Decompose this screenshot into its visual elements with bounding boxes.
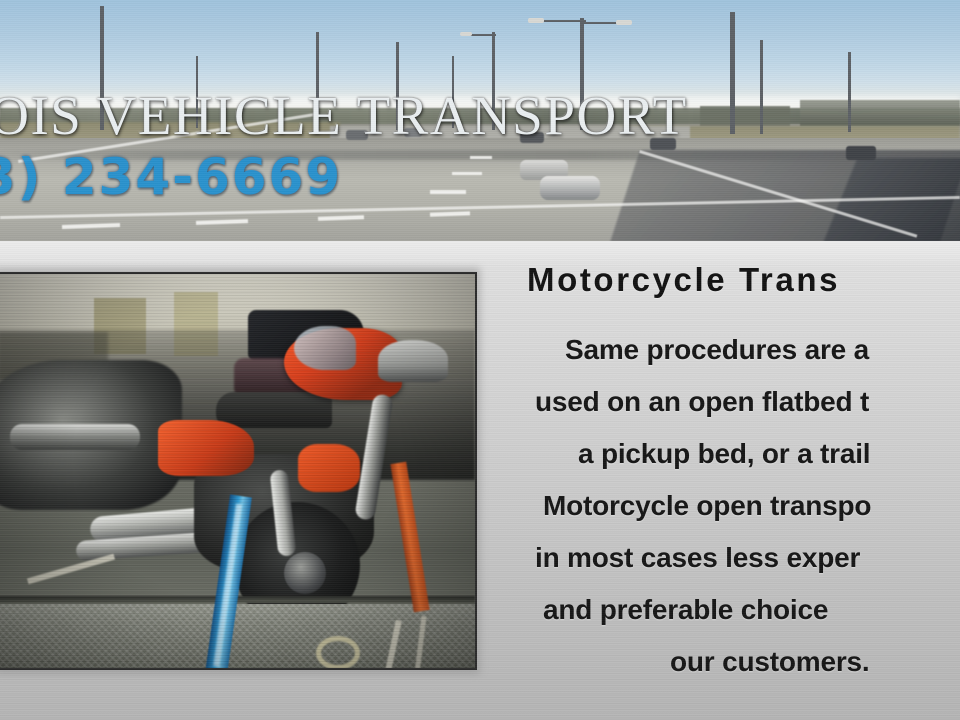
wheel-hub <box>284 552 326 594</box>
orange-tiedown-strap <box>390 462 429 613</box>
copy-line: used on an open flatbed t <box>535 386 869 418</box>
fuel-tank-stripe <box>294 326 356 370</box>
photo-inner <box>0 274 475 668</box>
company-phone-number: 73) 234-6669 <box>0 148 342 206</box>
front-fender <box>378 340 448 382</box>
copy-heading: Motorcycle Trans <box>527 261 840 299</box>
side-cover-orange-2 <box>298 444 360 492</box>
rope-strand <box>27 554 115 585</box>
side-cover-orange <box>158 420 254 476</box>
street-lamp <box>460 32 472 36</box>
tie-down-d-ring <box>316 636 360 670</box>
street-lamp <box>616 20 632 25</box>
street-lamp <box>528 18 544 23</box>
copy-line: in most cases less exper <box>535 542 860 574</box>
motorcycle-seat <box>216 392 332 428</box>
copy-line: Motorcycle open transpo <box>543 490 871 522</box>
copy-line: and preferable choice <box>543 594 828 626</box>
highway-video-scene: NOIS VEHICLE TRANSPORT 73) 234-6669 <box>0 0 960 241</box>
left-motorcycle-chrome <box>10 424 140 450</box>
copy-line: a pickup bed, or a trail <box>578 438 870 470</box>
video-player-frame: NOIS VEHICLE TRANSPORT 73) 234-6669 <box>0 0 960 720</box>
copy-line: our customers. <box>670 646 869 678</box>
title-container: NOIS VEHICLE TRANSPORT <box>0 84 960 146</box>
motorcycle-photo <box>0 272 477 670</box>
trailer-deck-mesh <box>0 604 475 670</box>
copy-line: Same procedures are a <box>565 334 869 366</box>
marketing-copy-block: Motorcycle Trans Same procedures are a u… <box>480 250 960 690</box>
phone-container: 73) 234-6669 <box>0 148 960 210</box>
company-title: NOIS VEHICLE TRANSPORT <box>0 84 688 146</box>
